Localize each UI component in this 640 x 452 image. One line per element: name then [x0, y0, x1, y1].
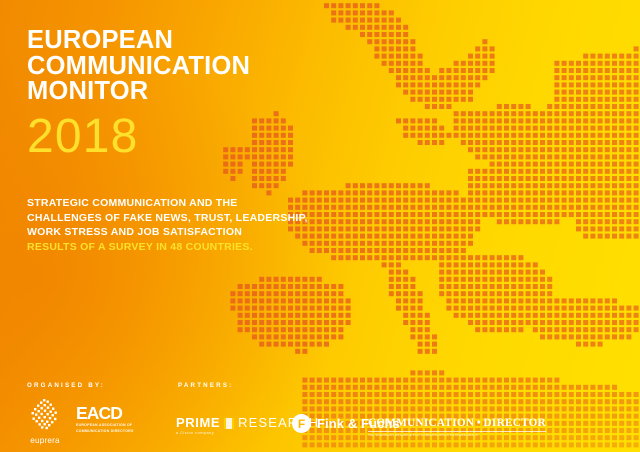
fink-fuchs-monogram-icon	[292, 414, 311, 433]
eacd-subtitle-line-2: COMMUNICATION DIRECTORS	[76, 429, 134, 434]
communication-director-tagline: THE EUROPEAN MAGAZINE FOR COMMUNICATION …	[368, 433, 546, 437]
communication-director-logo[interactable]: COMMUNICATION • DIRECTOR THE EUROPEAN MA…	[368, 417, 546, 437]
poster-year: 2018	[27, 112, 250, 162]
title-line-2: COMMUNICATION	[27, 54, 250, 80]
subtitle-line-2: CHALLENGES OF FAKE NEWS, TRUST, LEADERSH…	[27, 211, 308, 226]
euprera-star-icon	[27, 399, 63, 435]
eacd-wordmark: EACD	[76, 404, 134, 422]
eacd-subtitle-line-1: EUROPEAN ASSOCIATION OF	[76, 423, 134, 428]
poster-cover: EUROPEAN COMMUNICATION MONITOR 2018 STRA…	[0, 0, 640, 452]
euprera-logo[interactable]: euprera	[20, 399, 70, 445]
poster-subtitle-block: STRATEGIC COMMUNICATION AND THE CHALLENG…	[27, 196, 308, 254]
partners-label: PARTNERS:	[178, 382, 233, 389]
communication-director-rule	[368, 431, 546, 432]
subtitle-line-3: WORK STRESS AND JOB SATISFACTION	[27, 225, 308, 240]
eacd-logo[interactable]: EACD EUROPEAN ASSOCIATION OF COMMUNICATI…	[76, 404, 134, 433]
communication-director-wordmark: COMMUNICATION • DIRECTOR	[368, 417, 546, 429]
subtitle-accent-line: RESULTS OF A SURVEY IN 48 COUNTRIES.	[27, 240, 308, 255]
prime-wordmark: PRIME	[176, 416, 220, 430]
poster-title-block: EUROPEAN COMMUNICATION MONITOR 2018	[27, 28, 250, 162]
title-line-1: EUROPEAN	[27, 28, 250, 54]
subtitle-line-1: STRATEGIC COMMUNICATION AND THE	[27, 196, 308, 211]
euprera-wordmark: euprera	[20, 436, 70, 445]
organised-by-label: ORGANISED BY:	[27, 382, 105, 389]
title-line-3: MONITOR	[27, 79, 250, 105]
prime-book-icon	[224, 418, 234, 429]
